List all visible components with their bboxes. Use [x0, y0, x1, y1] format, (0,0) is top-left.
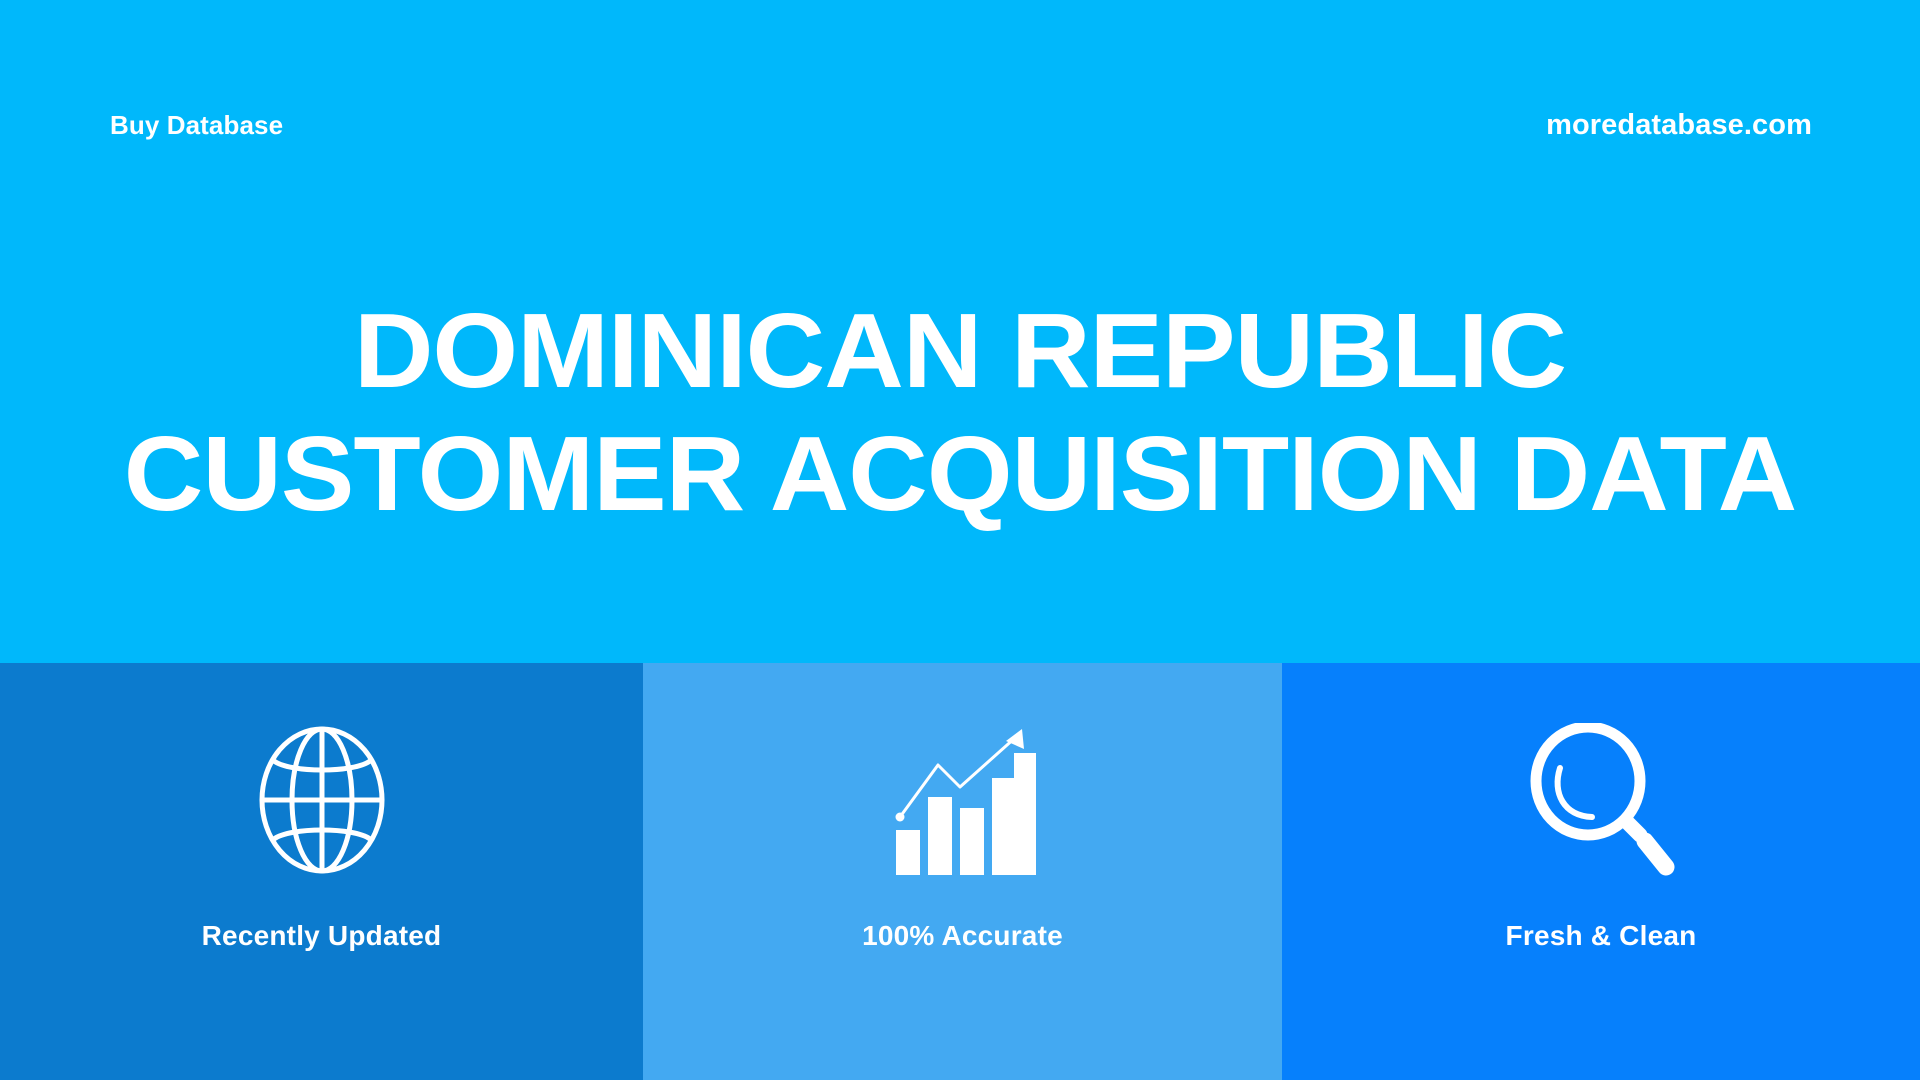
- feature-panel-label: Fresh & Clean: [1506, 921, 1697, 952]
- bar-chart-growth-icon: [883, 720, 1043, 880]
- feature-panels: Recently Updated: [0, 663, 1920, 1080]
- website-url: moredatabase.com: [1546, 111, 1812, 140]
- feature-panel-recently-updated[interactable]: Recently Updated: [0, 663, 643, 1080]
- promo-banner: Buy Database moredatabase.com DOMINICAN …: [0, 0, 1920, 1080]
- globe-icon: [242, 720, 402, 880]
- brand-name: Buy Database: [110, 112, 283, 138]
- feature-panel-accurate[interactable]: 100% Accurate: [643, 663, 1282, 1080]
- banner-header: Buy Database moredatabase.com DOMINICAN …: [0, 0, 1920, 663]
- page-title: DOMINICAN REPUBLIC CUSTOMER ACQUISITION …: [0, 290, 1920, 536]
- feature-panel-label: Recently Updated: [202, 921, 442, 952]
- feature-panel-label: 100% Accurate: [862, 921, 1063, 952]
- title-line-one: DOMINICAN REPUBLIC: [3, 290, 1917, 413]
- brand-row: Buy Database moredatabase.com: [0, 103, 1920, 147]
- feature-panel-fresh-clean[interactable]: Fresh & Clean: [1282, 663, 1920, 1080]
- magnifying-glass-icon: [1521, 720, 1681, 880]
- title-line-two: CUSTOMER ACQUISITION DATA: [3, 413, 1917, 536]
